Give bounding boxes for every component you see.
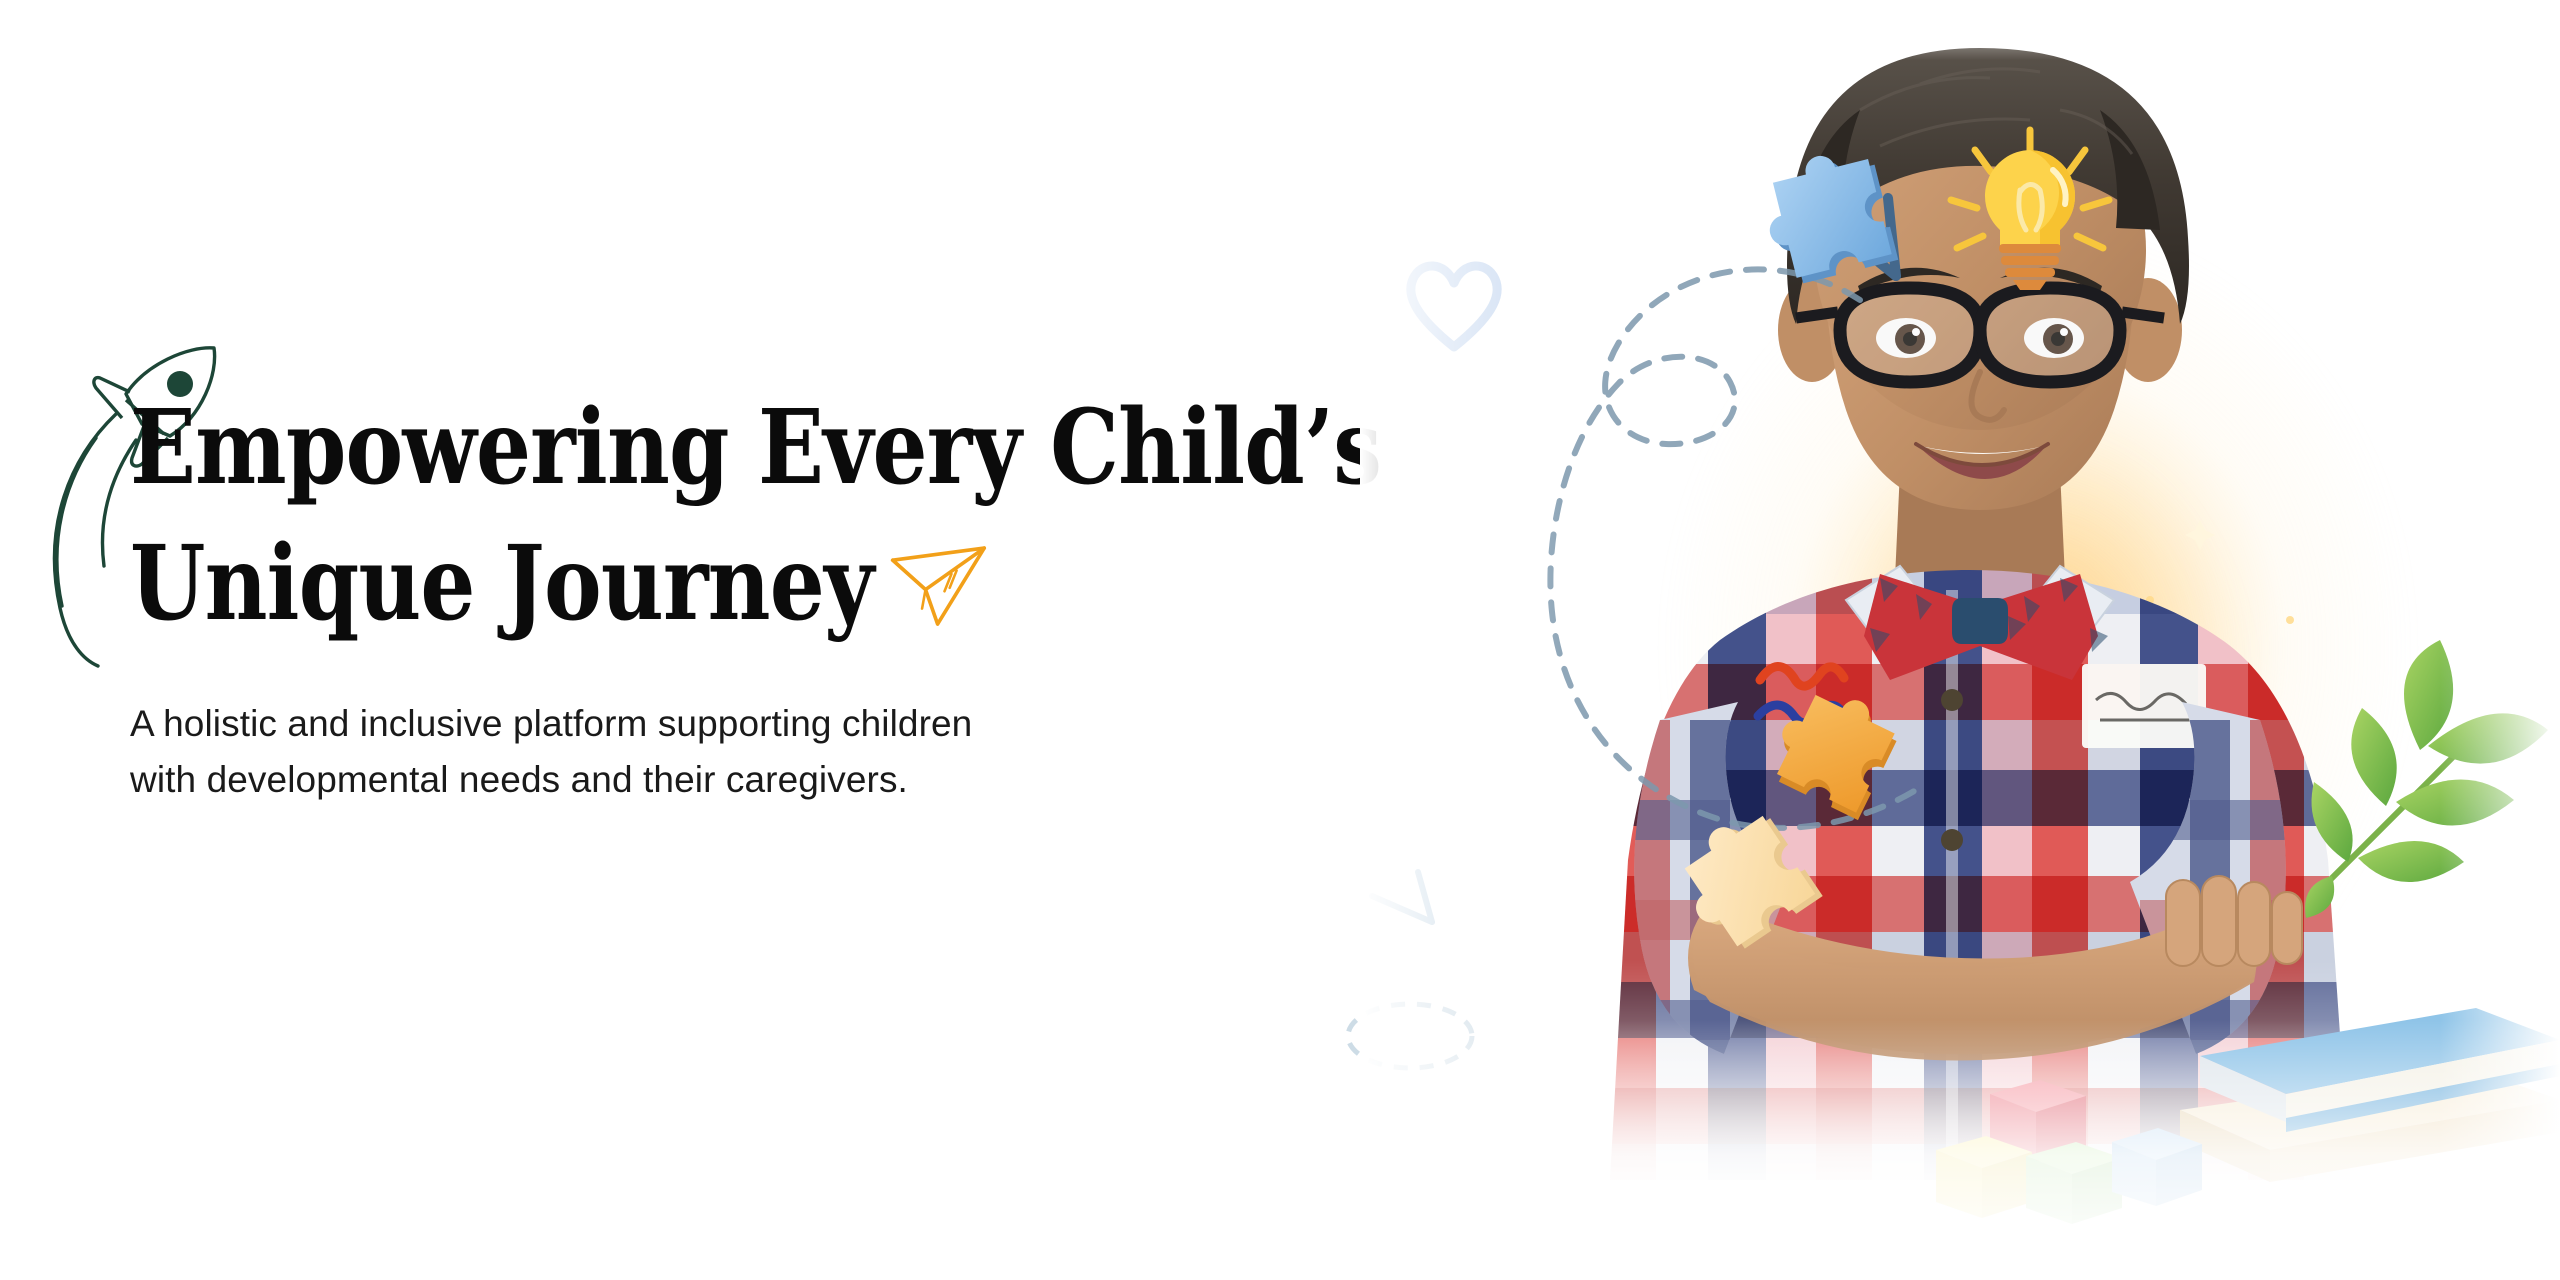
block-blue [2112, 1128, 2202, 1206]
hero-text-block: Empowering Every Child’s Unique Journey … [130, 380, 1430, 808]
lightbulb-base [1999, 244, 2061, 290]
puzzle-piece-cream [1670, 800, 1840, 970]
headline-line-1: Empowering Every Child’s [130, 380, 1222, 516]
page-title: Empowering Every Child’s Unique Journey [130, 380, 1222, 652]
subtitle-line-2: with developmental needs and their careg… [130, 752, 1430, 808]
block-green [2026, 1142, 2122, 1224]
subtitle-line-1: A holistic and inclusive platform suppor… [130, 696, 1430, 752]
small-arrow-icon [1372, 872, 1432, 922]
hero-artwork [1360, 0, 2560, 1280]
heart-outline-icon [1399, 253, 1509, 358]
hero-banner: Empowering Every Child’s Unique Journey … [0, 0, 2560, 1280]
rocket-trail [54, 414, 136, 666]
toy-blocks [1930, 1050, 2230, 1250]
lightbulb-icon [1935, 120, 2125, 310]
leaf-sprig [2300, 600, 2560, 930]
puzzle-piece-blue [1745, 135, 1925, 315]
paper-plane-icon [887, 536, 992, 631]
headline-line-2: Unique Journey [130, 516, 873, 652]
block-yellow [1936, 1136, 2032, 1218]
page-subtitle: A holistic and inclusive platform suppor… [130, 696, 1430, 808]
